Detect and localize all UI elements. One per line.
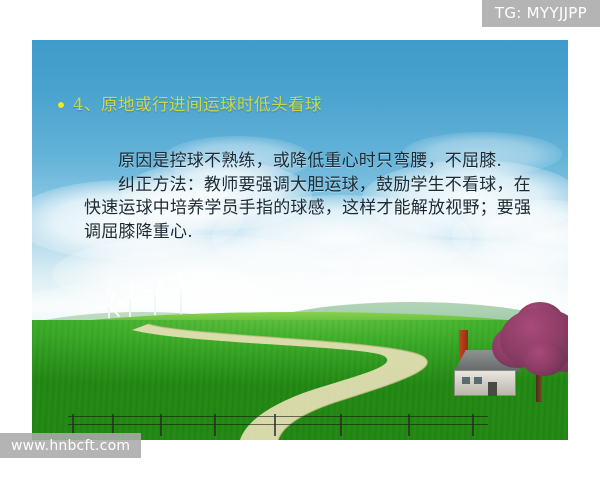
watermark-bottom-left: www.hnbcft.com — [0, 433, 141, 458]
body-paragraph-2: 纠正方法：教师要强调大胆运球，鼓励学生不看球，在快速运球中培养学员手指的球感，这… — [84, 174, 544, 245]
slide-heading: 4、原地或行进间运球时低头看球 — [58, 95, 322, 116]
watermark-top-right: TG: MYYJJPP — [482, 0, 600, 27]
slide-heading-text: 4、原地或行进间运球时低头看球 — [73, 95, 322, 116]
body-paragraph-1: 原因是控球不熟练，或降低重心时只弯腰，不屈膝. — [84, 150, 544, 174]
slide-canvas: 4、原地或行进间运球时低头看球 原因是控球不熟练，或降低重心时只弯腰，不屈膝. … — [32, 40, 568, 440]
slide-text-layer: 4、原地或行进间运球时低头看球 原因是控球不熟练，或降低重心时只弯腰，不屈膝. … — [32, 40, 568, 440]
slide-body: 原因是控球不熟练，或降低重心时只弯腰，不屈膝. 纠正方法：教师要强调大胆运球，鼓… — [84, 150, 544, 244]
bullet-dot-icon — [58, 102, 64, 108]
